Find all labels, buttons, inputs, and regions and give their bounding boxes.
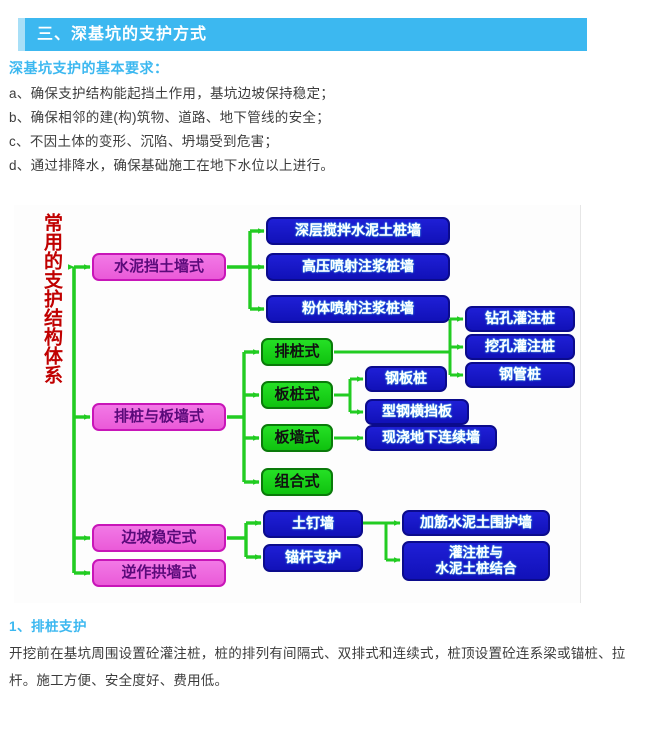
page-title: 三、深基坑的支护方式 [25, 18, 207, 51]
requirement-item-d: d、通过排降水，确保基础施工在地下水位以上进行。 [9, 154, 649, 178]
node-bored-cast-in-place-pile[interactable]: 钻孔灌注桩 [465, 306, 575, 332]
requirement-item-b: b、确保相邻的建(构)筑物、道路、地下管线的安全； [9, 106, 649, 130]
node-deep-mixing-cement-soil-pile-wall[interactable]: 深层搅拌水泥土桩墙 [266, 217, 450, 245]
node-line-1: 灌注桩与 [449, 545, 503, 561]
header-accent-bar [18, 18, 25, 51]
node-section-steel-horizontal-lagging[interactable]: 型钢横挡板 [365, 399, 469, 425]
node-reverse-arch-wall[interactable]: 逆作拱墙式 [92, 559, 226, 587]
node-cast-pile-with-cement-soil-pile[interactable]: 灌注桩与 水泥土桩结合 [402, 541, 550, 581]
node-row-pile-type[interactable]: 排桩式 [261, 338, 333, 366]
requirement-item-c: c、不因土体的变形、沉陷、坍塌受到危害； [9, 130, 649, 154]
intro-subheading: 深基坑支护的基本要求： [9, 58, 169, 78]
node-reinforced-cement-soil-retaining-wall[interactable]: 加筋水泥土围护墙 [402, 510, 550, 536]
diagram-root-label: 常用的支护结构体系 [32, 213, 62, 384]
node-combined-type[interactable]: 组合式 [261, 468, 333, 496]
node-soil-nail-wall[interactable]: 土钉墙 [263, 510, 363, 538]
node-sheet-wall-type[interactable]: 板墙式 [261, 424, 333, 452]
section-header: 三、深基坑的支护方式 [18, 18, 587, 51]
requirements-list: a、确保支护结构能起挡土作用，基坑边坡保持稳定； b、确保相邻的建(构)筑物、道… [9, 82, 649, 178]
footer-subheading: 1、排桩支护 [9, 615, 87, 635]
page-root: 三、深基坑的支护方式 深基坑支护的基本要求： a、确保支护结构能起挡土作用，基坑… [0, 0, 660, 743]
node-dug-cast-in-place-pile[interactable]: 挖孔灌注桩 [465, 334, 575, 360]
node-high-pressure-jet-grouting-pile-wall[interactable]: 高压喷射注浆桩墙 [266, 253, 450, 281]
node-cast-in-place-diaphragm-wall[interactable]: 现浇地下连续墙 [365, 425, 497, 451]
node-cement-retaining-wall[interactable]: 水泥挡土墙式 [92, 253, 226, 281]
node-line-2: 水泥土桩结合 [436, 561, 517, 577]
node-steel-pipe-pile[interactable]: 钢管桩 [465, 362, 575, 388]
node-steel-sheet-pile[interactable]: 钢板桩 [365, 366, 447, 392]
support-structure-diagram: 常用的支护结构体系 水泥挡土墙式 排桩与板墙式 边坡稳定式 逆作拱墙式 深层搅拌… [14, 205, 581, 603]
requirement-item-a: a、确保支护结构能起挡土作用，基坑边坡保持稳定； [9, 82, 649, 106]
node-anchor-rod-support[interactable]: 锚杆支护 [263, 544, 363, 572]
node-row-pile-and-sheet-wall[interactable]: 排桩与板墙式 [92, 403, 226, 431]
node-sheet-pile-type[interactable]: 板桩式 [261, 381, 333, 409]
node-slope-stability[interactable]: 边坡稳定式 [92, 524, 226, 552]
footer-paragraph: 开挖前在基坑周围设置砼灌注桩，桩的排列有间隔式、双排式和连续式，桩顶设置砼连系梁… [9, 640, 651, 694]
node-powder-jet-grouting-pile-wall[interactable]: 粉体喷射注浆桩墙 [266, 295, 450, 323]
